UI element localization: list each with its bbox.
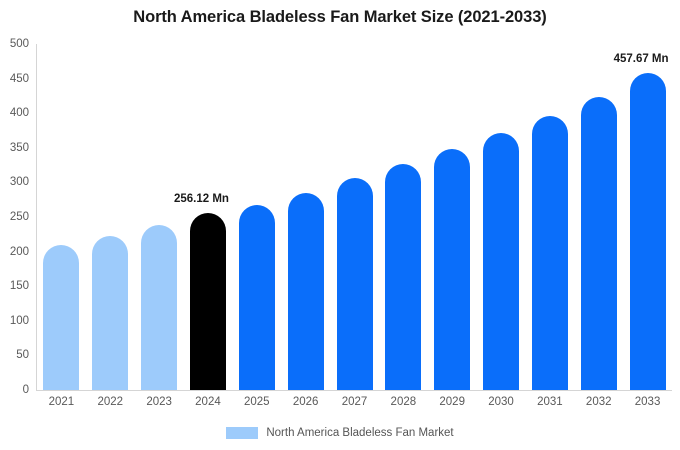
y-axis-tick-0: 0 xyxy=(0,384,29,396)
bar-2026[interactable] xyxy=(288,193,324,390)
bar-2030[interactable] xyxy=(483,133,519,390)
x-axis-tick-2031: 2031 xyxy=(525,396,574,408)
x-axis-tick-2025: 2025 xyxy=(232,396,281,408)
y-axis-tick-400: 400 xyxy=(0,107,29,119)
chart-title: North America Bladeless Fan Market Size … xyxy=(0,8,680,27)
y-axis-tick-250: 250 xyxy=(0,211,29,223)
bar-chart: North America Bladeless Fan Market Size … xyxy=(0,0,680,450)
y-axis-tick-150: 150 xyxy=(0,280,29,292)
bar-2023[interactable] xyxy=(141,225,177,390)
legend-swatch-north-america-bladeless-fan-market xyxy=(226,427,258,439)
plot-area xyxy=(37,44,672,390)
x-axis-tick-2030: 2030 xyxy=(477,396,526,408)
bar-2024[interactable] xyxy=(190,213,226,390)
y-axis-tick-100: 100 xyxy=(0,315,29,327)
x-axis-tick-2027: 2027 xyxy=(330,396,379,408)
x-axis-tick-2029: 2029 xyxy=(428,396,477,408)
bar-2031[interactable] xyxy=(532,116,568,390)
bar-2027[interactable] xyxy=(337,178,373,390)
x-axis-tick-2022: 2022 xyxy=(86,396,135,408)
chart-legend: North America Bladeless Fan Market xyxy=(0,427,680,439)
bar-2033[interactable] xyxy=(630,73,666,390)
data-label-2033: 457.67 Mn xyxy=(614,53,669,65)
x-axis-tick-2023: 2023 xyxy=(135,396,184,408)
x-axis-tick-2024: 2024 xyxy=(184,396,233,408)
bar-2028[interactable] xyxy=(385,164,421,390)
x-axis-tick-2021: 2021 xyxy=(37,396,86,408)
y-axis-tick-200: 200 xyxy=(0,246,29,258)
y-axis-tick-500: 500 xyxy=(0,38,29,50)
y-axis-tick-450: 450 xyxy=(0,73,29,85)
legend-label-north-america-bladeless-fan-market: North America Bladeless Fan Market xyxy=(266,427,453,439)
bar-2022[interactable] xyxy=(92,236,128,390)
bar-2021[interactable] xyxy=(43,245,79,390)
bar-2029[interactable] xyxy=(434,149,470,390)
data-label-2024: 256.12 Mn xyxy=(174,193,229,205)
x-axis-tick-2028: 2028 xyxy=(379,396,428,408)
x-axis-tick-2032: 2032 xyxy=(574,396,623,408)
x-axis-tick-2026: 2026 xyxy=(281,396,330,408)
y-axis-tick-50: 50 xyxy=(0,349,29,361)
x-axis-tick-2033: 2033 xyxy=(623,396,672,408)
bar-2032[interactable] xyxy=(581,97,617,390)
y-axis-tick-300: 300 xyxy=(0,176,29,188)
bar-2025[interactable] xyxy=(239,205,275,390)
x-axis-line xyxy=(36,390,672,391)
y-axis-tick-350: 350 xyxy=(0,142,29,154)
